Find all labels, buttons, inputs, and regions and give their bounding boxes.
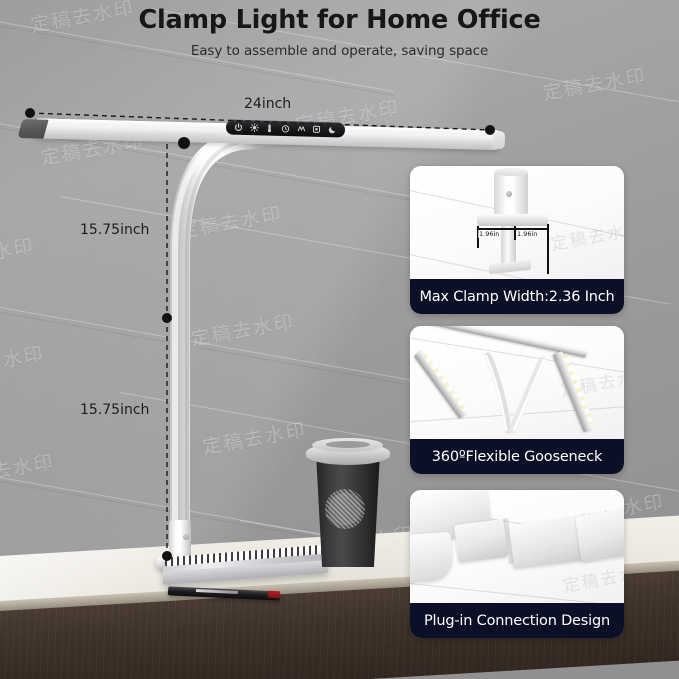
clamp-top-plate [477,214,548,226]
clamp-dimension-left: 1.96in [478,230,500,238]
watermark-text: 定稿去水印 [549,214,624,255]
page-subtitle: Easy to assemble and operate, saving spa… [0,34,679,59]
product-marketing-image: 定稿去水印 定稿去水印 定稿去水印 定稿去水印 定稿去水印 定稿去水印 定稿去水… [0,0,679,679]
feature-card-label-plug-in-connection: Plug-in Connection Design [410,603,624,638]
watermark-text: 定稿去水印 [561,556,624,597]
dim-tick-right [547,224,549,274]
feature-card-label-flexible-gooseneck: 360ºFlexible Gooseneck [410,439,624,474]
page-title: Clamp Light for Home Office [0,0,679,34]
feature-card-max-clamp-width[interactable]: 定稿去水印 1.96in 1.96in Max Clamp Width:2.36… [410,166,624,314]
feature-card-image-clamp: 定稿去水印 1.96in 1.96in [410,166,624,279]
dimension-label-lower-arm: 15.75inch [80,402,149,418]
clamp-bottom-pad [489,260,531,274]
clamp-dimension-right: 1.96in [516,230,538,238]
gooseneck-curves [410,326,624,439]
feature-card-image-plug: 定稿去水印 定稿去水印 [410,490,624,603]
plug-arm-segment [575,508,624,562]
clamp-post-screw [506,191,512,197]
header: Clamp Light for Home Office Easy to asse… [0,0,679,59]
plug-housing-lower [410,532,454,584]
dimension-label-upper-arm: 15.75inch [80,222,149,238]
dimension-label-bar-length: 24inch [244,96,291,112]
feature-card-flexible-gooseneck[interactable]: 定稿去水印 360ºFlexible Gooseneck [410,326,624,474]
clamp-post-cap [494,168,528,176]
feature-card-plug-in-connection[interactable]: 定稿去水印 定稿去水印 Plug-in Connection Design [410,490,624,638]
plug-connector-male [454,519,508,563]
feature-card-label-max-clamp-width: Max Clamp Width:2.36 Inch [410,279,624,314]
feature-card-image-gooseneck: 定稿去水印 [410,326,624,439]
